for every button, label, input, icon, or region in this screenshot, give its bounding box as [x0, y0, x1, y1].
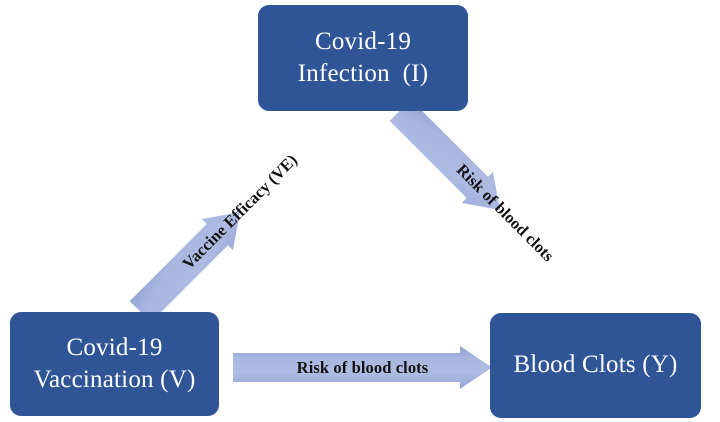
node-blood-clots[interactable]: Blood Clots (Y)	[490, 313, 701, 418]
node-vaccination-line-2: Vaccination (V)	[34, 364, 196, 397]
node-covid19-infection[interactable]: Covid-19 Infection (I)	[258, 5, 468, 111]
arrow-label-vaccination-to-bloodclots: Risk of blood clots	[233, 346, 492, 390]
node-bloodclots-line-1: Blood Clots (Y)	[513, 349, 677, 382]
node-infection-line-2: Infection (I)	[298, 58, 429, 91]
diagram-canvas: Risk of blood clots Vaccine Efficacy (VE…	[0, 0, 720, 422]
node-covid19-vaccination[interactable]: Covid-19 Vaccination (V)	[10, 312, 219, 416]
node-vaccination-line-1: Covid-19	[66, 332, 162, 365]
node-infection-line-1: Covid-19	[315, 26, 411, 59]
